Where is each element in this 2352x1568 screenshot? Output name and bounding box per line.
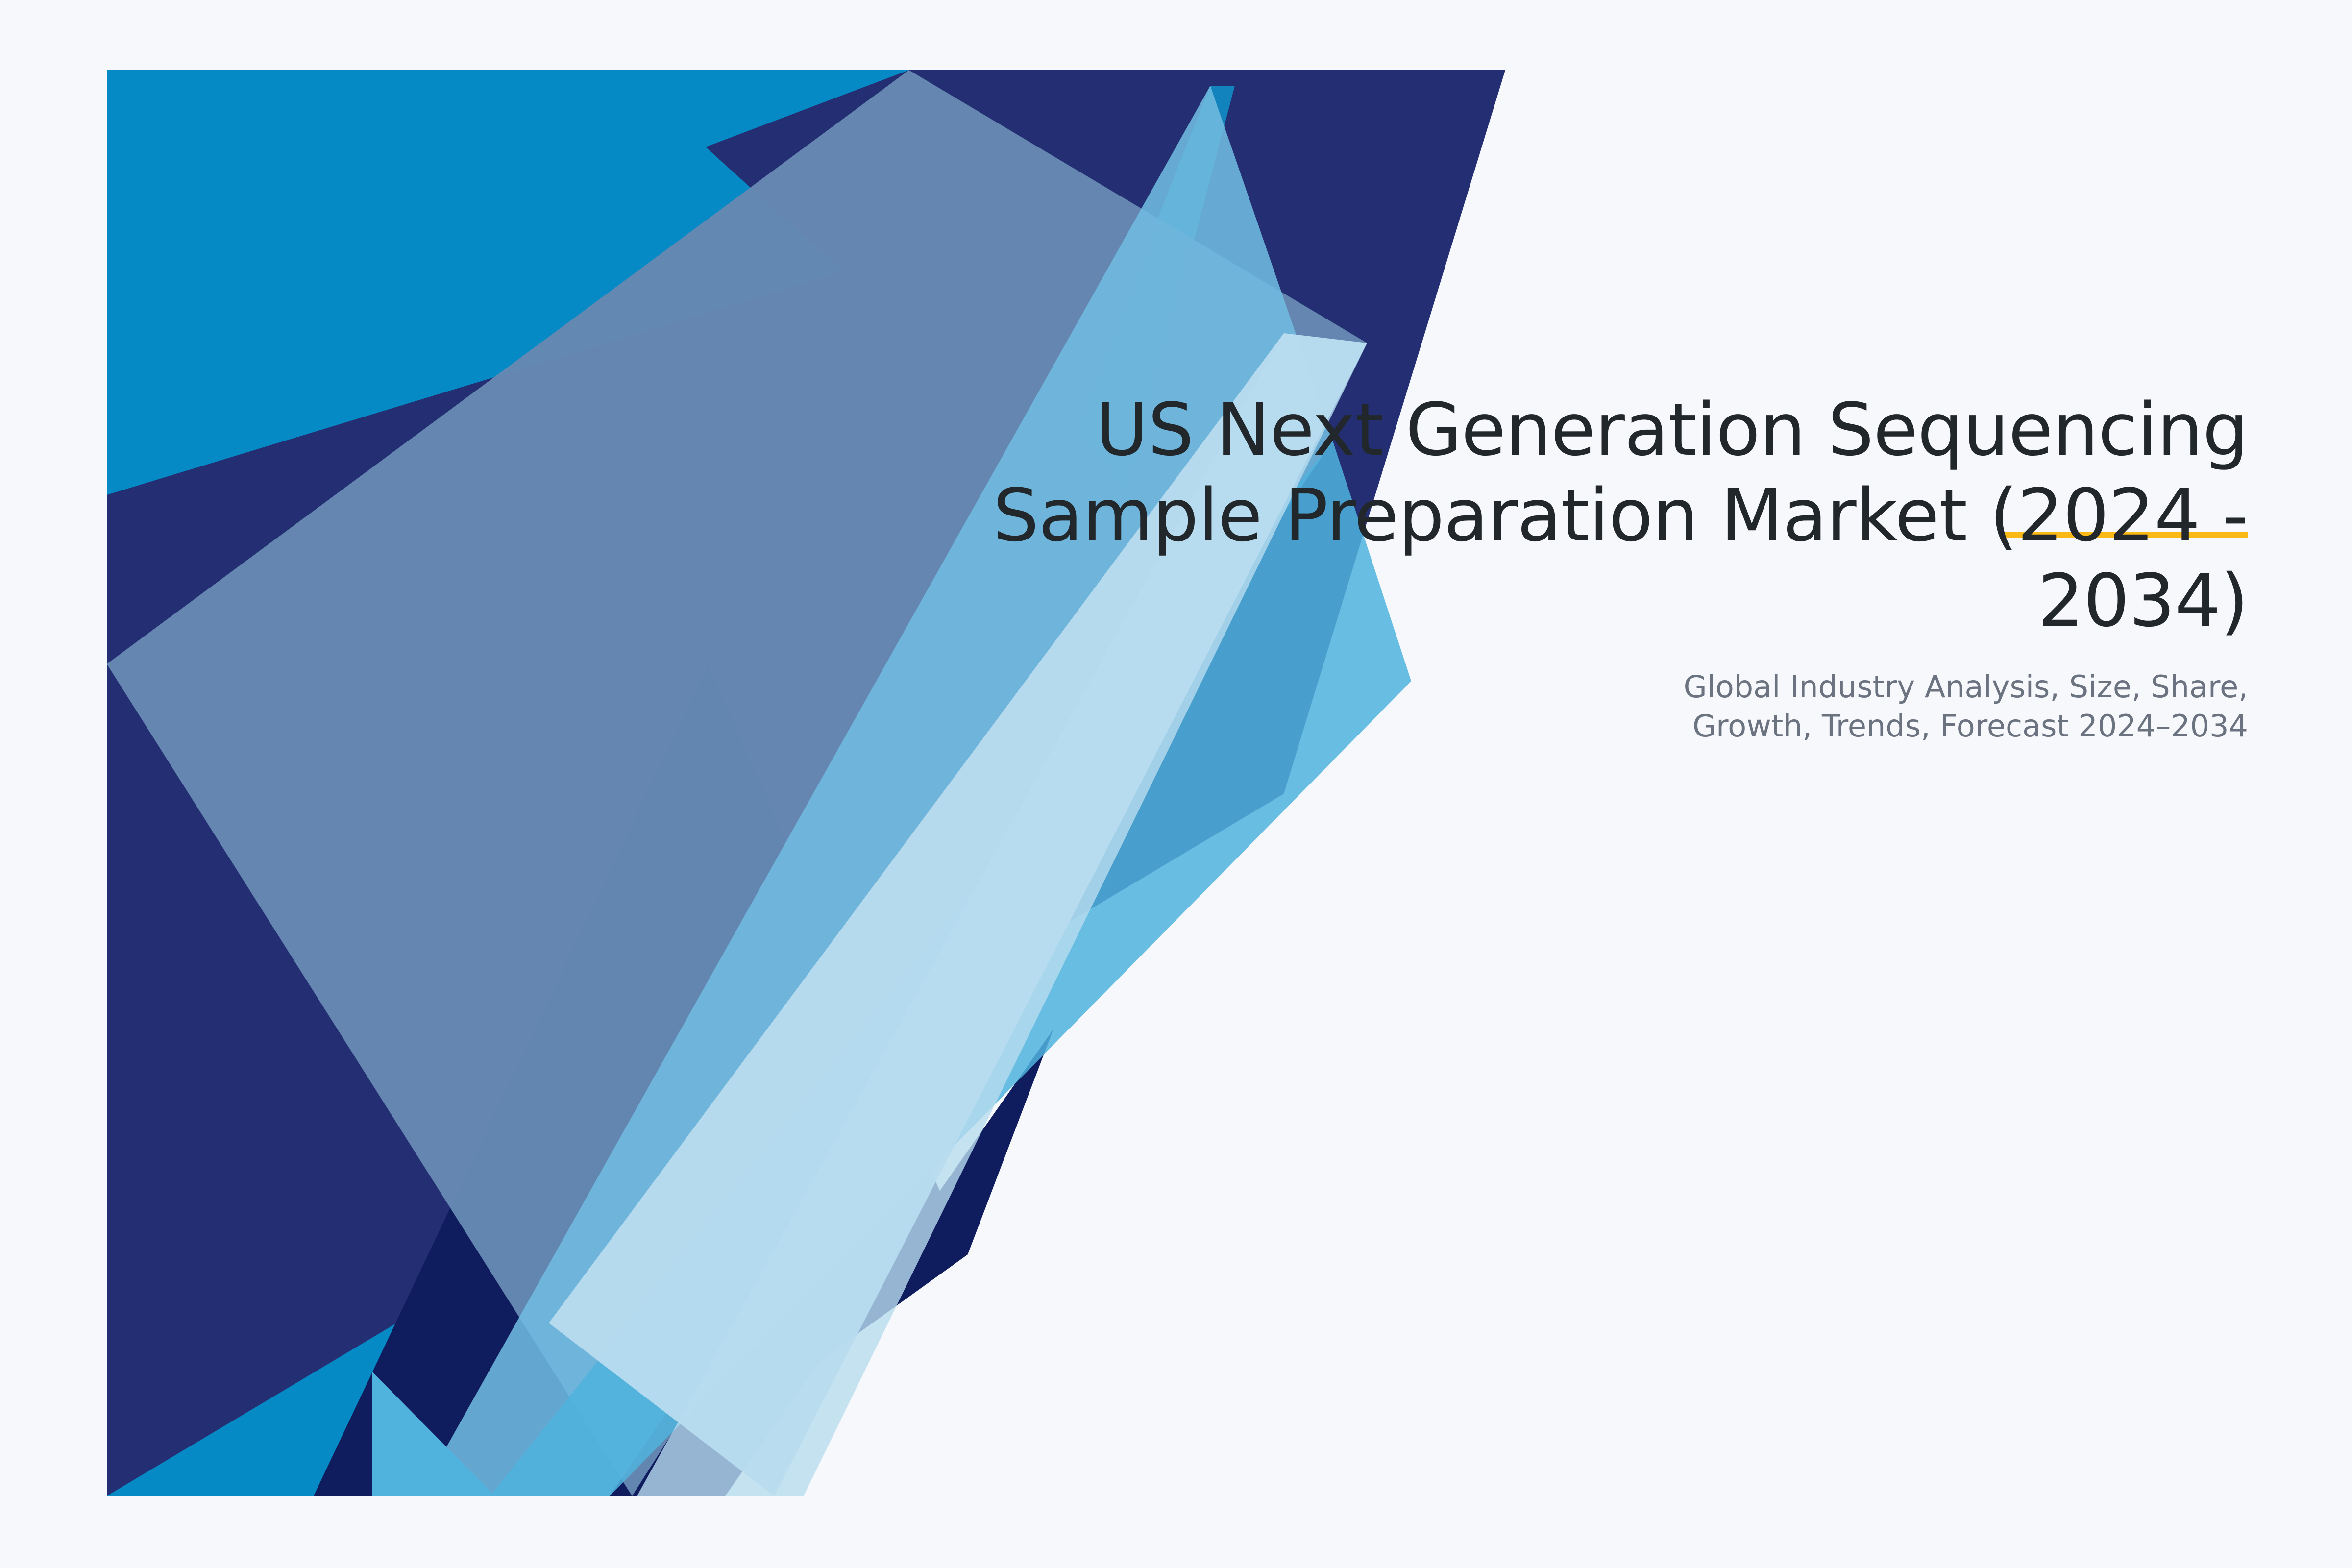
page-title: US Next Generation Sequencing Sample Pre…: [931, 387, 2248, 644]
report-cover-page: US Next Generation Sequencing Sample Pre…: [0, 0, 2352, 1568]
cover-text-block: US Next Generation Sequencing Sample Pre…: [931, 387, 2248, 746]
page-subtitle: Global Industry Analysis, Size, Share, G…: [931, 644, 2248, 746]
abstract-geometric-cover-graphic: [0, 0, 2352, 1568]
